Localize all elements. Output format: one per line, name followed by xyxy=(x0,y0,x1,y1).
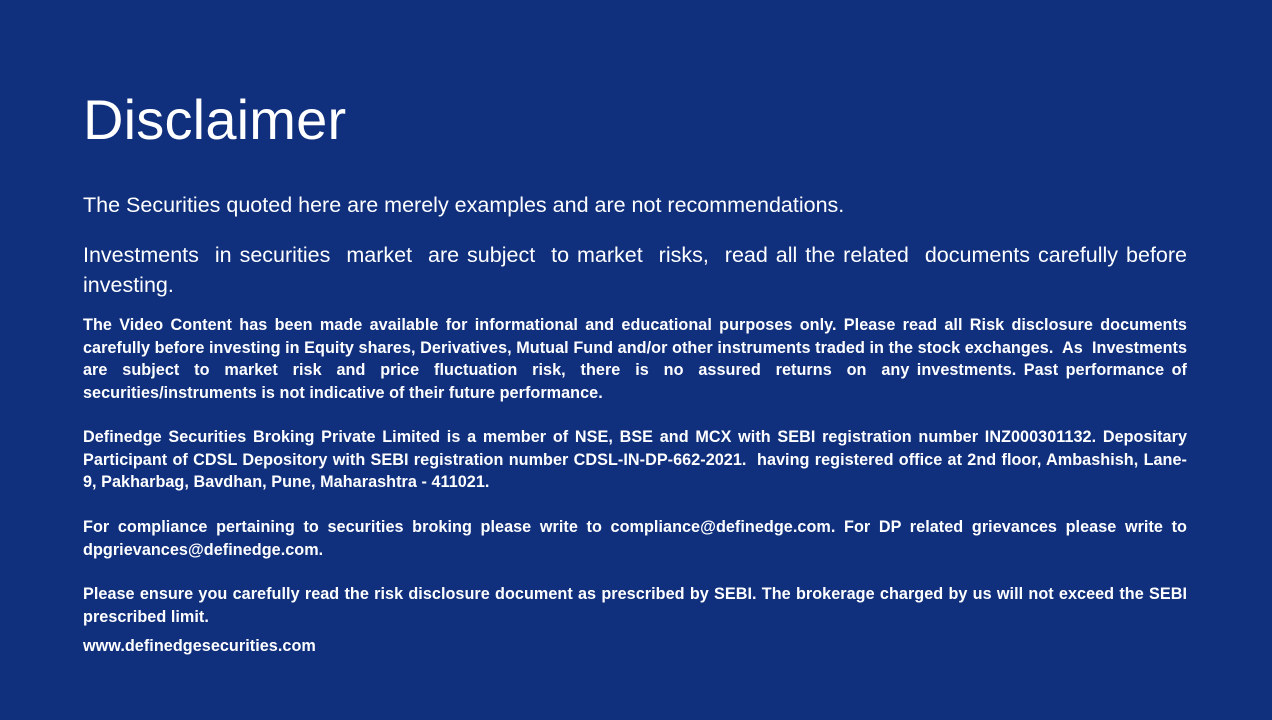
paragraph-video-content-disclosure: The Video Content has been made availabl… xyxy=(83,314,1187,404)
lede-paragraph-market-risk: Investments in securities market are sub… xyxy=(83,240,1187,300)
page-title: Disclaimer xyxy=(83,90,346,150)
paragraph-company-registration: Definedge Securities Broking Private Lim… xyxy=(83,426,1187,494)
paragraph-risk-disclosure-brokerage: Please ensure you carefully read the ris… xyxy=(83,583,1187,628)
lede-paragraph-securities-examples: The Securities quoted here are merely ex… xyxy=(83,190,1187,220)
slide-content: Disclaimer The Securities quoted here ar… xyxy=(83,0,1187,720)
disclaimer-slide: Disclaimer The Securities quoted here ar… xyxy=(0,0,1272,720)
website-url[interactable]: www.definedgesecurities.com xyxy=(83,635,316,658)
paragraph-compliance-contact: For compliance pertaining to securities … xyxy=(83,516,1187,561)
